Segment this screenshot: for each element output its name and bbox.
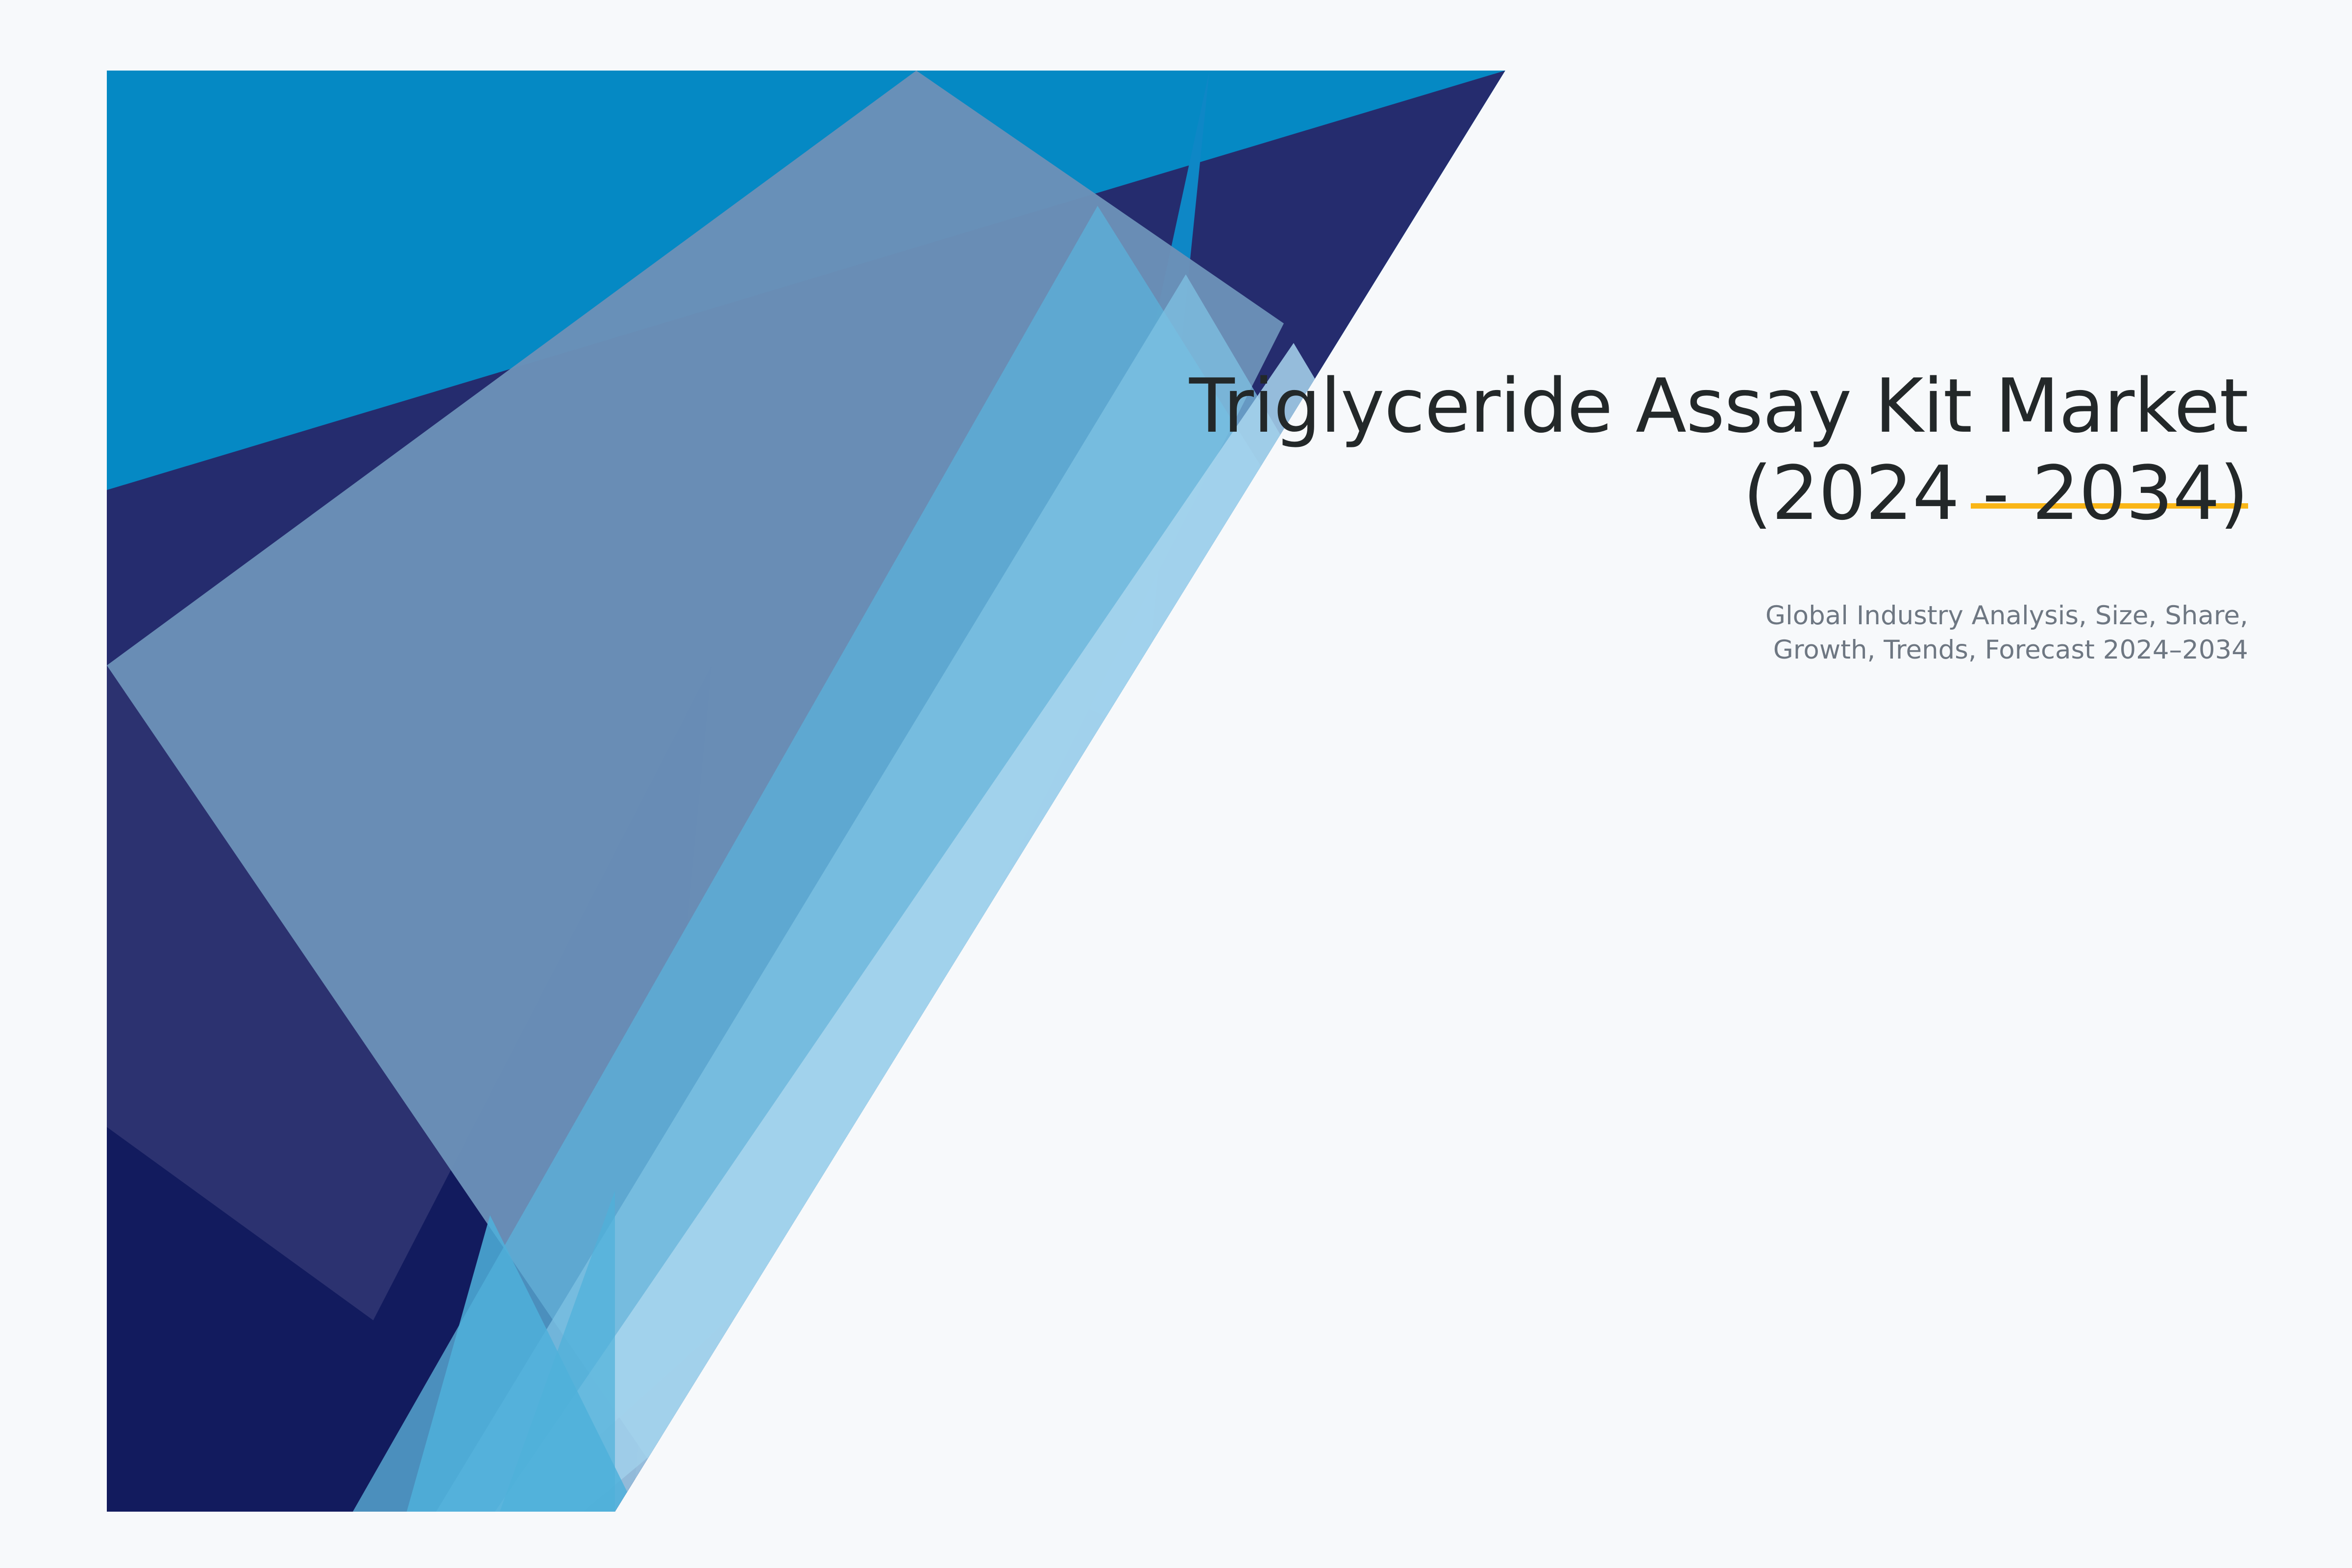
shape-navy-wedge xyxy=(107,71,1505,1512)
report-cover: Triglyceride Assay Kit Market (2024 - 20… xyxy=(0,0,2352,1568)
shape-steel-blue-quad xyxy=(107,71,1284,1512)
shape-navy-slab xyxy=(107,1127,637,1512)
shape-bottom-blue-accent-2 xyxy=(500,1191,615,1512)
cover-text-block: Triglyceride Assay Kit Market (2024 - 20… xyxy=(1176,363,2248,667)
report-subtitle: Global Industry Analysis, Size, Share, G… xyxy=(1176,537,2248,667)
title-wrapper: Triglyceride Assay Kit Market (2024 - 20… xyxy=(1176,363,2248,537)
shape-bottom-blue-accent xyxy=(407,1215,637,1512)
page-title: Triglyceride Assay Kit Market (2024 - 20… xyxy=(1176,363,2248,537)
shape-navy-spike xyxy=(274,665,711,1512)
shape-cyan-base xyxy=(107,71,1508,1516)
shape-deep-navy-mass xyxy=(107,666,715,1512)
abstract-polygon-graphic xyxy=(0,0,2352,1568)
